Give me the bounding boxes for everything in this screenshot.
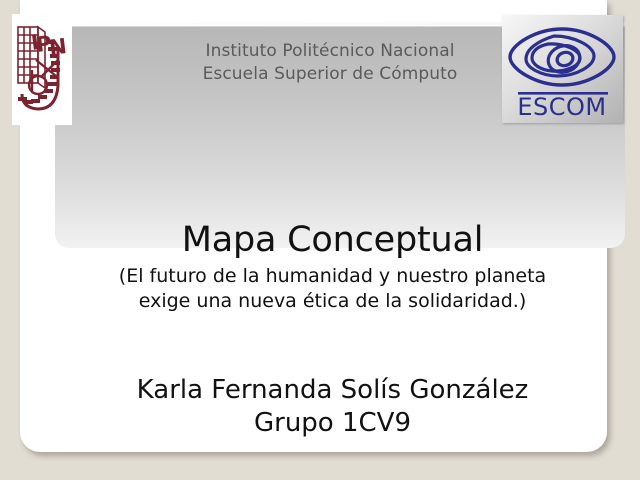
slide-stage: Instituto Politécnico Nacional Escuela S… bbox=[0, 0, 640, 480]
page-title: Mapa Conceptual bbox=[60, 218, 605, 262]
institution-line-2: Escuela Superior de Cómputo bbox=[120, 63, 540, 86]
author-name: Karla Fernanda Solís González bbox=[60, 374, 605, 407]
escom-wordmark: ESCOM bbox=[517, 93, 606, 121]
title-block: Mapa Conceptual (El futuro de la humanid… bbox=[60, 218, 605, 314]
author-block: Karla Fernanda Solís González Grupo 1CV9 bbox=[60, 374, 605, 440]
escom-logo: ESCOM bbox=[502, 15, 623, 123]
ipn-logo: I P N bbox=[12, 14, 72, 125]
page-subtitle: (El futuro de la humanidad y nuestro pla… bbox=[60, 264, 605, 314]
institution-line-1: Instituto Politécnico Nacional bbox=[120, 40, 540, 63]
institution-heading: Instituto Politécnico Nacional Escuela S… bbox=[120, 40, 540, 86]
author-group: Grupo 1CV9 bbox=[60, 407, 605, 440]
svg-text:N: N bbox=[48, 34, 68, 60]
